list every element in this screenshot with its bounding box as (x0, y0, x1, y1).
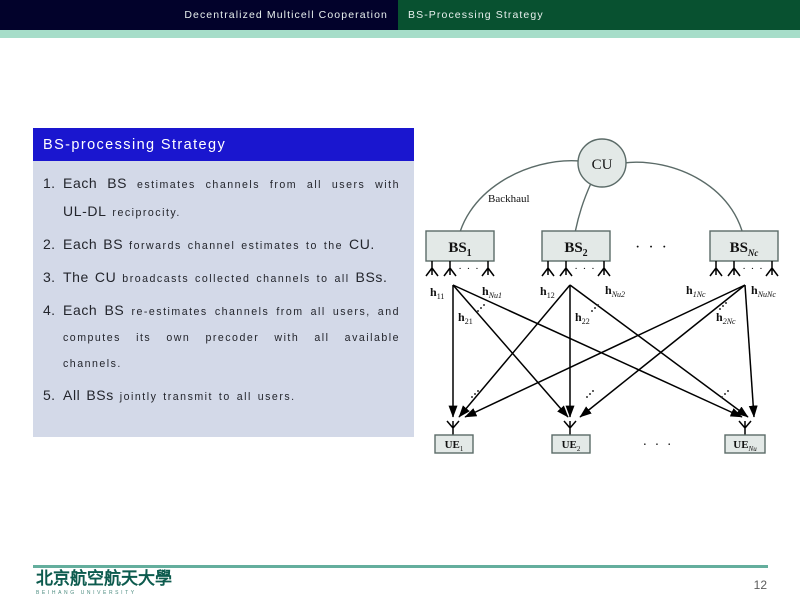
panel-body: 1.Each BS estimates channels from all us… (33, 161, 414, 437)
strategy-list-item: 4.Each BS re-estimates channels from all… (43, 297, 400, 377)
strategy-text-fragment: The CU (63, 269, 116, 285)
strategy-text-fragment: broadcasts collected channels to all (122, 273, 349, 285)
university-logo: 北京航空航天大學 BEIHANG UNIVERSITY (36, 570, 196, 596)
ue-row-ellipsis: · · · (643, 438, 674, 453)
channel-label-h2nc: h2Nc (716, 310, 736, 326)
channel-label-hnu1: hNu1 (482, 284, 502, 300)
antenna-bs2-a (542, 261, 554, 276)
strategy-text-fragment: jointly transmit to all users. (120, 391, 296, 403)
strategy-text-fragment: UL-DL (63, 203, 106, 219)
antenna-bs2-c (598, 261, 610, 276)
bs-node-nc-base: BS (730, 240, 748, 256)
ue-nodes: UE1 UE2 UENu · · · (435, 435, 765, 453)
antenna-ellipsis-bs1: · · · (458, 263, 480, 275)
strategy-list-item-text: Each BS forwards channel estimates to th… (63, 231, 400, 259)
strategy-text-fragment: reciprocity. (112, 207, 180, 219)
strategy-text-fragment: Each BS (63, 175, 127, 191)
antenna-ue1 (447, 421, 459, 435)
slide-header: Decentralized Multicell Cooperation BS-P… (0, 0, 800, 30)
strategy-list-item: 3.The CU broadcasts collected channels t… (43, 264, 400, 292)
strategy-list-item-number: 4. (43, 297, 63, 323)
strategy-list-item-text: Each BS estimates channels from all user… (63, 170, 400, 226)
header-section-block: Decentralized Multicell Cooperation (0, 0, 398, 30)
cu-label: CU (592, 157, 613, 173)
antenna-bs1-b (444, 261, 456, 276)
channel-label-h1nc: h1Nc (686, 283, 706, 299)
channel-label-h11: h11 (430, 285, 444, 301)
bs-node-1-base: BS (448, 240, 466, 256)
antenna-bs1-c (482, 261, 494, 276)
channel-label-hnunc: hNuNc (751, 283, 776, 299)
bs-node-nc-sub: Nc (747, 248, 759, 258)
antenna-bs1-a (426, 261, 438, 276)
strategy-text-fragment: All BSs (63, 387, 114, 403)
footer-divider-rule (33, 565, 768, 568)
strategy-text-fragment: Each BS (63, 236, 123, 252)
channel-label-h12: h12 (540, 284, 555, 300)
multicell-network-diagram: CU Backhaul BS1 BS2 BSNc · · · (420, 135, 800, 475)
strategy-list-item-number: 3. (43, 264, 63, 290)
antenna-bsnc-a (710, 261, 722, 276)
channel-label-hnu2: hNu2 (605, 283, 625, 299)
strategy-text-fragment: estimates channels from all users with (137, 179, 400, 191)
antenna-bsnc-c (766, 261, 778, 276)
link-bs1-ue2 (453, 285, 568, 417)
link-bsnc-uenu (745, 285, 754, 417)
strategy-list-item-number: 1. (43, 170, 63, 196)
channel-label-h22: h22 (575, 310, 590, 326)
header-divider-rule (0, 30, 800, 38)
bs-node-1-sub: 1 (467, 248, 472, 259)
ue-antennas (447, 421, 751, 435)
antenna-uenu (739, 421, 751, 435)
panel-title-bar: BS-processing Strategy (33, 128, 414, 161)
channel-label-group: h11 h21 hNu1 h12 h22 hNu2 h1Nc h2Nc (430, 283, 776, 326)
antenna-ellipses: · · · · · · · · · (458, 263, 764, 275)
bs-row-ellipsis: · · · (635, 239, 669, 256)
strategy-list-item: 5.All BSs jointly transmit to all users. (43, 382, 400, 410)
logo-english-text: BEIHANG UNIVERSITY (36, 590, 196, 596)
link-bs2-ue1 (459, 285, 570, 417)
logo-chinese-text: 北京航空航天大學 (36, 570, 196, 589)
channel-label-h21: h21 (458, 310, 473, 326)
page-number: 12 (754, 578, 767, 592)
bs-node-2-base: BS (564, 240, 582, 256)
antenna-ellipsis-bsnc: · · · (742, 263, 764, 275)
antenna-ellipsis-bs2: · · · (574, 263, 596, 275)
strategy-list-item-text: Each BS re-estimates channels from all u… (63, 297, 400, 377)
panel-title-text: BS-processing Strategy (43, 137, 226, 153)
strategy-text-fragment: BSs. (356, 269, 388, 285)
bs-nodes: BS1 BS2 BSNc · · · (426, 231, 778, 261)
antenna-bs2-b (560, 261, 572, 276)
strategy-list-item: 2.Each BS forwards channel estimates to … (43, 231, 400, 259)
header-slide-title: BS-Processing Strategy (408, 9, 544, 21)
strategy-text-fragment: CU. (349, 236, 375, 252)
header-section-title: Decentralized Multicell Cooperation (184, 9, 388, 21)
header-slide-block: BS-Processing Strategy (398, 0, 800, 30)
diagram-svg: CU Backhaul BS1 BS2 BSNc · · · (420, 135, 800, 475)
strategy-list-item-text: The CU broadcasts collected channels to … (63, 264, 400, 292)
antenna-ue2 (564, 421, 576, 435)
backhaul-label: Backhaul (488, 193, 530, 205)
strategy-list-item-number: 2. (43, 231, 63, 257)
bs-processing-strategy-panel: BS-processing Strategy 1.Each BS estimat… (33, 128, 414, 437)
bs-node-2-sub: 2 (583, 248, 588, 259)
strategy-list-item-text: All BSs jointly transmit to all users. (63, 382, 400, 410)
strategy-text-fragment: forwards channel estimates to the (129, 240, 343, 252)
channel-links (453, 285, 754, 417)
strategy-list-item-number: 5. (43, 382, 63, 408)
antenna-bsnc-b (728, 261, 740, 276)
strategy-list-item: 1.Each BS estimates channels from all us… (43, 170, 400, 226)
strategy-text-fragment: Each BS (63, 302, 124, 318)
